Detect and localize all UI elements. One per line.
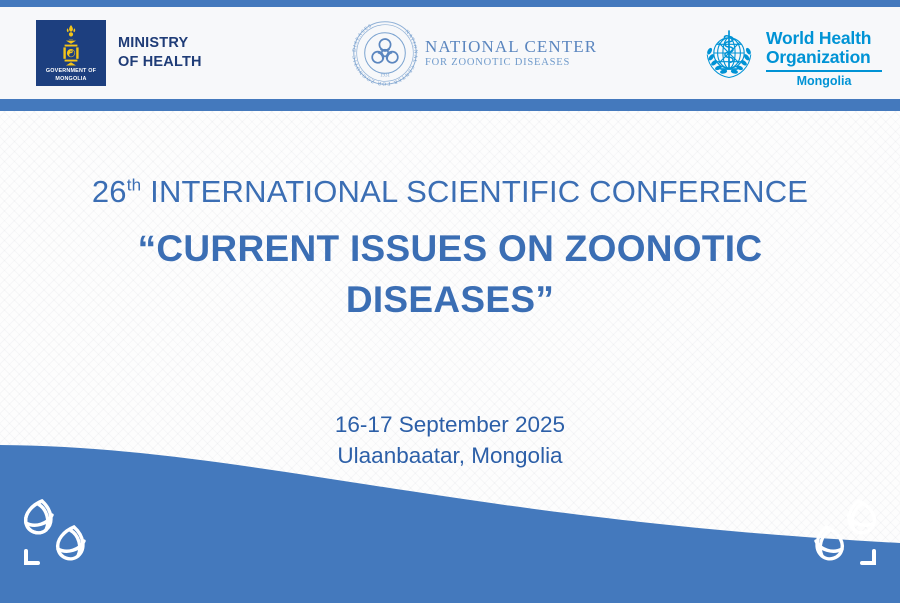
seal-year: 1931 [380, 74, 391, 79]
conference-heading: 26th INTERNATIONAL SCIENTIFIC CONFERENCE [0, 174, 900, 210]
conference-ordinal: th [127, 176, 142, 195]
header-accent-rule [0, 99, 900, 111]
top-accent-rule [0, 0, 900, 7]
who-logo: World Health Organization Mongolia [700, 27, 882, 88]
triquetra-knot-pair-right [794, 493, 886, 571]
ministry-name: MINISTRY OF HEALTH [118, 34, 202, 72]
national-center-name: NATIONAL CENTER FOR ZOONOTIC DISEASES [425, 37, 597, 69]
conference-theme-line2: DISEASES” [0, 274, 900, 325]
national-center-logo: NATIONAL CENTER FOR ZOONOTIC DISEASES [352, 20, 597, 86]
national-center-name-line2: FOR ZOONOTIC DISEASES [425, 56, 597, 69]
conference-label: INTERNATIONAL SCIENTIFIC CONFERENCE [150, 174, 808, 209]
conference-number: 26 [92, 174, 127, 209]
who-emblem [700, 27, 758, 85]
who-name: World Health Organization Mongolia [766, 27, 882, 88]
government-badge-line1: GOVERNMENT OF [46, 68, 96, 75]
header-bar: GOVERNMENT OF MONGOLIA MINISTRY OF HEALT… [0, 7, 900, 99]
who-country: Mongolia [766, 74, 882, 88]
conference-theme-line1: “CURRENT ISSUES ON ZOONOTIC [0, 223, 900, 274]
zoonotic-trefoil-seal: NATIONAL CENTER FOR ZOONOTIC DISEASES [352, 20, 418, 86]
soyombo-emblem-badge: GOVERNMENT OF MONGOLIA [36, 20, 106, 86]
soyombo-emblem [51, 23, 91, 67]
who-name-line1: World Health [766, 29, 882, 48]
conference-title-slide: GOVERNMENT OF MONGOLIA MINISTRY OF HEALT… [0, 0, 900, 603]
header-logos: GOVERNMENT OF MONGOLIA MINISTRY OF HEALT… [0, 7, 900, 99]
bottom-wave [0, 423, 900, 603]
who-name-line2: Organization [766, 48, 882, 67]
who-divider [766, 70, 882, 72]
ministry-of-health-logo: GOVERNMENT OF MONGOLIA MINISTRY OF HEALT… [36, 20, 202, 86]
government-badge-line2: MONGOLIA [55, 76, 86, 83]
ministry-name-line2: OF HEALTH [118, 53, 202, 72]
national-center-name-line1: NATIONAL CENTER [425, 37, 597, 56]
ministry-name-line1: MINISTRY [118, 34, 202, 53]
conference-theme: “CURRENT ISSUES ON ZOONOTIC DISEASES” [0, 223, 900, 325]
triquetra-knot-pair-left [14, 493, 106, 571]
